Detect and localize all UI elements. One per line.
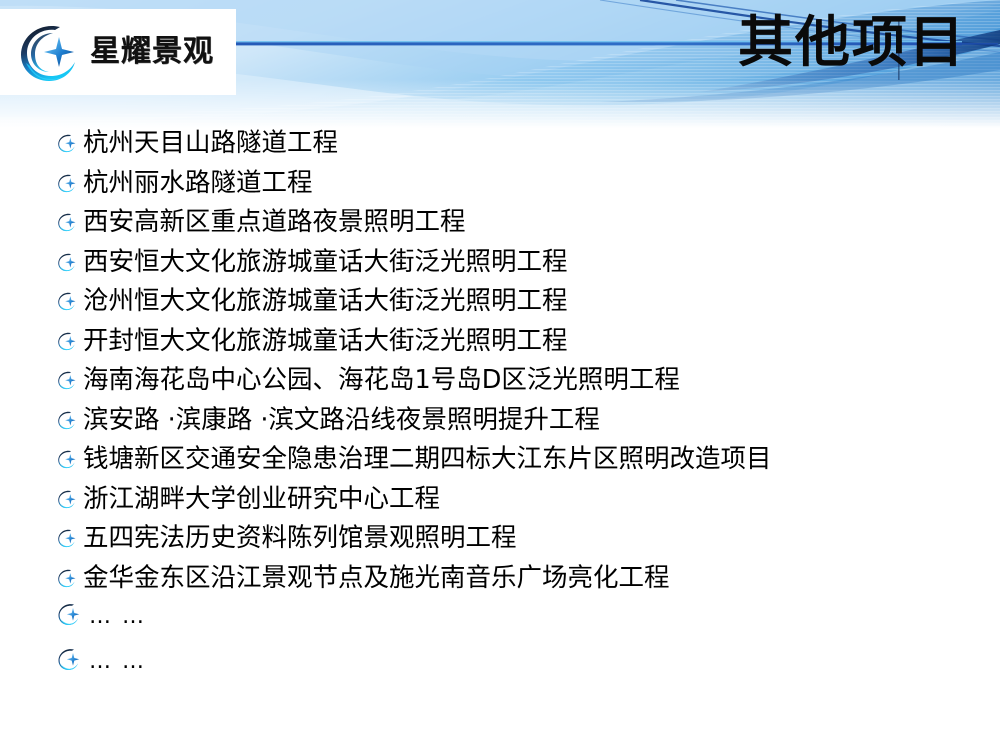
list-item: 开封恒大文化旅游城童话大街泛光照明工程: [57, 324, 987, 364]
crescent-star-bullet-icon: [57, 331, 77, 351]
list-item: 五四宪法历史资料陈列馆景观照明工程: [57, 521, 987, 561]
company-name-label: 星耀景观: [90, 37, 214, 67]
list-item-label: 杭州天目山路隧道工程: [83, 126, 338, 160]
crescent-star-bullet-icon: [57, 252, 77, 272]
list-item: 沧州恒大文化旅游城童话大街泛光照明工程: [57, 284, 987, 324]
crescent-star-bullet-icon: [57, 133, 77, 153]
list-item-label: 滨安路 ·滨康路 ·滨文路沿线夜景照明提升工程: [83, 403, 600, 437]
crescent-star-bullet-icon: [57, 568, 77, 588]
list-item: 西安恒大文化旅游城童话大街泛光照明工程: [57, 245, 987, 285]
company-logo-plate: 星耀景观: [0, 9, 236, 95]
crescent-star-bullet-icon: [57, 647, 81, 671]
slide-header-banner: 星耀景观 其他项目: [0, 0, 1000, 128]
list-item: 杭州天目山路隧道工程: [57, 126, 987, 166]
project-list: 杭州天目山路隧道工程杭州丽水路隧道工程西安高新区重点道路夜景照明工程西安恒大文化…: [57, 126, 987, 690]
list-item: 海南海花岛中心公园、海花岛1号岛D区泛光照明工程: [57, 363, 987, 403]
list-item-label: 钱塘新区交通安全隐患治理二期四标大江东片区照明改造项目: [83, 442, 772, 476]
list-item: 杭州丽水路隧道工程: [57, 166, 987, 206]
list-item-label: 西安高新区重点道路夜景照明工程: [83, 205, 466, 239]
list-item: … …: [57, 600, 987, 645]
list-item: 西安高新区重点道路夜景照明工程: [57, 205, 987, 245]
crescent-star-bullet-icon: [57, 449, 77, 469]
list-item: 金华金东区沿江景观节点及施光南音乐广场亮化工程: [57, 561, 987, 601]
crescent-star-bullet-icon: [57, 528, 77, 548]
list-item-label: 开封恒大文化旅游城童话大街泛光照明工程: [83, 324, 568, 358]
list-item-label: 五四宪法历史资料陈列馆景观照明工程: [83, 521, 517, 555]
list-item-label: 杭州丽水路隧道工程: [83, 166, 313, 200]
crescent-star-logo-icon: [14, 19, 82, 85]
crescent-star-bullet-icon: [57, 370, 77, 390]
crescent-star-bullet-icon: [57, 602, 81, 626]
crescent-star-bullet-icon: [57, 212, 77, 232]
crescent-star-bullet-icon: [57, 291, 77, 311]
list-item-label: … …: [85, 600, 146, 634]
slide: 星耀景观 其他项目 杭州天目山路隧道工程杭州丽水路隧道工程西安高新区重点道路夜景…: [0, 0, 1000, 750]
list-item: 钱塘新区交通安全隐患治理二期四标大江东片区照明改造项目: [57, 442, 987, 482]
list-item-label: 金华金东区沿江景观节点及施光南音乐广场亮化工程: [83, 561, 670, 595]
page-title: 其他项目: [738, 14, 966, 72]
list-item-label: 海南海花岛中心公园、海花岛1号岛D区泛光照明工程: [83, 363, 680, 397]
crescent-star-bullet-icon: [57, 173, 77, 193]
list-item: 滨安路 ·滨康路 ·滨文路沿线夜景照明提升工程: [57, 403, 987, 443]
list-item: 浙江湖畔大学创业研究中心工程: [57, 482, 987, 522]
list-item-label: … …: [85, 645, 146, 679]
crescent-star-bullet-icon: [57, 489, 77, 509]
list-item-label: 西安恒大文化旅游城童话大街泛光照明工程: [83, 245, 568, 279]
list-item-label: 沧州恒大文化旅游城童话大街泛光照明工程: [83, 284, 568, 318]
list-item-label: 浙江湖畔大学创业研究中心工程: [83, 482, 440, 516]
crescent-star-bullet-icon: [57, 410, 77, 430]
list-item: … …: [57, 645, 987, 690]
